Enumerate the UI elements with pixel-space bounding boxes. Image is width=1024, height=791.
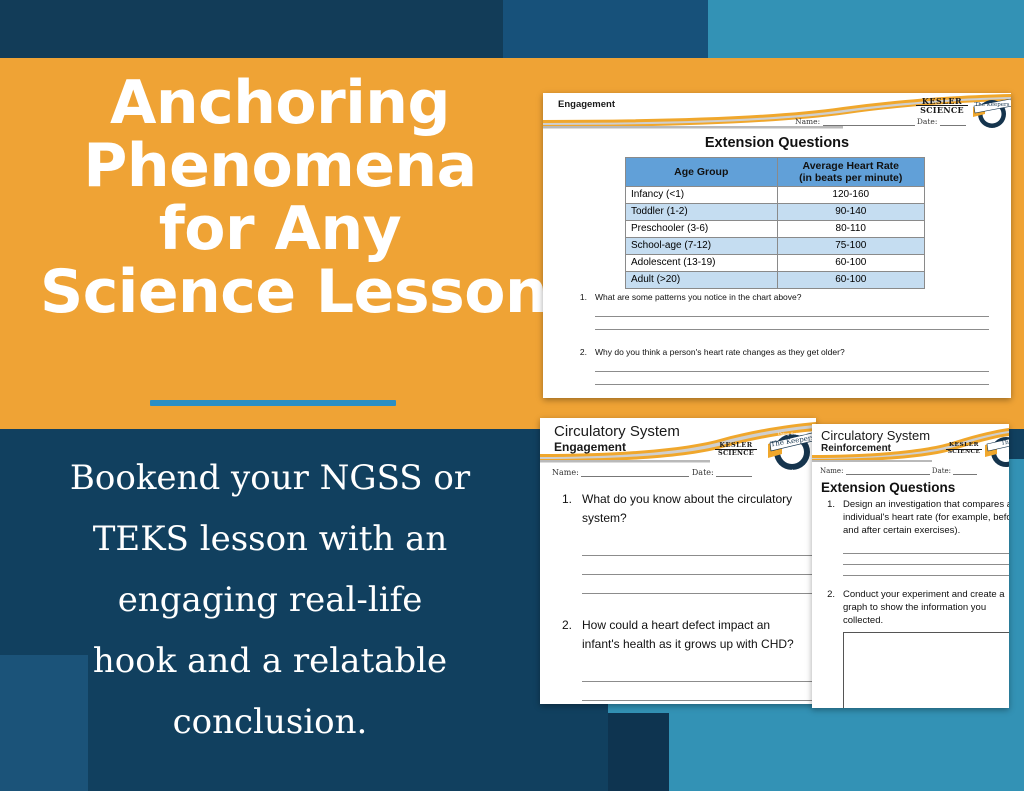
answer-lines[interactable]: [595, 361, 989, 385]
page-title-line-2: Phenomena: [40, 135, 520, 198]
cell-age-group: Adult (>20): [626, 272, 778, 289]
name-label: Name:: [552, 468, 579, 477]
worksheet-subtitle: Reinforcement: [821, 443, 891, 454]
answer-line[interactable]: [582, 663, 816, 682]
answer-lines[interactable]: [582, 537, 816, 594]
cell-heart-rate: 60-100: [777, 255, 924, 272]
background-navy-bottom-right: [608, 713, 669, 791]
name-input-rule[interactable]: [823, 125, 915, 126]
answer-box-wrap[interactable]: [843, 632, 1009, 708]
question-list: 1. What are some patterns you notice in …: [569, 292, 989, 385]
question-list: 1. What do you know about the circulator…: [556, 490, 816, 704]
the-keepers-badge-icon: The: [984, 430, 1009, 474]
answer-line[interactable]: [582, 537, 816, 556]
page-subtitle-line-3: engaging real-life: [20, 570, 520, 631]
page-subtitle: Bookend your NGSS or TEKS lesson with an…: [20, 448, 520, 753]
answer-line[interactable]: [595, 372, 989, 385]
question-item: 2. Conduct your experiment and create a …: [821, 588, 1009, 627]
answer-line[interactable]: [595, 306, 989, 317]
question-item: 1. What do you know about the circulator…: [556, 490, 816, 528]
question-text: What are some patterns you notice in the…: [595, 292, 801, 302]
worksheet-header-label: Engagement: [558, 99, 615, 110]
question-text-line-1: How could a heart defect impact an: [582, 616, 794, 635]
page-title-line-4: Science Lesson: [40, 261, 520, 324]
answer-line[interactable]: [582, 701, 816, 704]
the-keepers-badge-icon: The Keepers: [971, 93, 1011, 135]
cell-heart-rate: 80-110: [777, 221, 924, 238]
worksheet-title: Circulatory System: [821, 428, 930, 443]
svg-text:The Keepers: The Keepers: [975, 102, 1010, 108]
table-row: Infancy (<1) 120-160: [626, 187, 925, 204]
question-text-line-1: What do you know about the circulatory: [582, 490, 792, 509]
kesler-science-logo: KESLER SCIENCE: [916, 97, 968, 114]
table-col-heart-rate: Average Heart Rate (in beats per minute): [777, 158, 924, 187]
name-label: Name:: [795, 117, 820, 126]
page-title-line-1: Anchoring: [40, 72, 520, 135]
the-keepers-badge-icon: The Keepers Using Science Change the Wor…: [766, 426, 816, 478]
question-item: 2. Why do you think a person's heart rat…: [569, 347, 989, 357]
worksheet-engagement-extension[interactable]: Engagement KESLER SCIENCE The Keepers Na…: [543, 93, 1011, 398]
name-date-line: Name: Date:: [820, 467, 977, 475]
question-text-line-3: collected.: [843, 614, 1005, 627]
logo-line-2: SCIENCE: [946, 449, 982, 456]
logo-line-2: SCIENCE: [715, 449, 757, 457]
cell-heart-rate: 75-100: [777, 238, 924, 255]
question-text-line-3: and after certain exercises).: [843, 524, 1009, 537]
worksheet-circulatory-engagement[interactable]: Circulatory System Engagement KESLER SCI…: [540, 418, 816, 704]
question-text-line-2: system?: [582, 509, 792, 528]
question-number: 1.: [556, 490, 572, 528]
answer-line[interactable]: [595, 317, 989, 330]
background-navy-top-band: [0, 0, 503, 58]
answer-lines[interactable]: [582, 663, 816, 704]
question-list: 1. Design an investigation that compares…: [821, 498, 1009, 708]
date-label: Date:: [932, 467, 951, 475]
table-header-row: Age Group Average Heart Rate (in beats p…: [626, 158, 925, 187]
question-number: 1.: [821, 498, 835, 537]
table-row: School-age (7-12) 75-100: [626, 238, 925, 255]
question-text: Why do you think a person's heart rate c…: [595, 347, 845, 357]
name-input-rule[interactable]: [581, 476, 689, 477]
worksheet-circulatory-reinforcement[interactable]: Circulatory System Reinforcement KESLER …: [812, 424, 1009, 708]
cell-heart-rate: 120-160: [777, 187, 924, 204]
question-number: 1.: [569, 292, 587, 302]
worksheet-subtitle: Engagement: [554, 440, 626, 454]
cell-heart-rate: 60-100: [777, 272, 924, 289]
date-input-rule[interactable]: [953, 474, 977, 475]
answer-line[interactable]: [843, 543, 1009, 554]
graph-answer-box[interactable]: [843, 632, 1009, 708]
page-subtitle-line-2: TEKS lesson with an: [20, 509, 520, 570]
logo-line-1: KESLER: [946, 443, 982, 449]
poster-canvas: Anchoring Phenomena for Any Science Less…: [0, 0, 1024, 791]
page-subtitle-line-5: conclusion.: [20, 692, 520, 753]
table-row: Preschooler (3-6) 80-110: [626, 221, 925, 238]
answer-line[interactable]: [582, 575, 816, 594]
table-col-heart-rate-line1: Average Heart Rate: [803, 160, 900, 172]
table-row: Toddler (1-2) 90-140: [626, 204, 925, 221]
question-text-line-1: Conduct your experiment and create a: [843, 588, 1005, 601]
cell-age-group: Infancy (<1): [626, 187, 778, 204]
page-subtitle-line-1: Bookend your NGSS or: [20, 448, 520, 509]
date-input-rule[interactable]: [940, 125, 966, 126]
cell-age-group: Adolescent (13-19): [626, 255, 778, 272]
question-text-line-2: infant's health as it grows up with CHD?: [582, 635, 794, 654]
answer-line[interactable]: [843, 565, 1009, 576]
logo-line-2: SCIENCE: [916, 105, 968, 114]
answer-line[interactable]: [582, 682, 816, 701]
section-title: Extension Questions: [821, 480, 955, 495]
svg-text:Using Science: Using Science: [778, 431, 808, 436]
name-date-line: Name: Date:: [552, 468, 752, 477]
cell-age-group: Toddler (1-2): [626, 204, 778, 221]
question-item: 2. How could a heart defect impact an in…: [556, 616, 816, 654]
svg-text:Change the World: Change the World: [774, 468, 811, 473]
question-text-line-2: individual's heart rate (for example, be…: [843, 511, 1009, 524]
svg-text:The: The: [1001, 438, 1009, 447]
answer-line[interactable]: [595, 361, 989, 372]
section-title: Extension Questions: [543, 135, 1011, 151]
question-item: 1. What are some patterns you notice in …: [569, 292, 989, 302]
logo-line-1: KESLER: [715, 442, 757, 449]
question-text-line-2: graph to show the information you: [843, 601, 1005, 614]
name-date-line: Name: Date:: [795, 117, 966, 126]
answer-lines[interactable]: [843, 543, 1009, 576]
cell-age-group: School-age (7-12): [626, 238, 778, 255]
kesler-science-logo: KESLER SCIENCE: [715, 442, 757, 456]
question-item: 1. Design an investigation that compares…: [821, 498, 1009, 537]
page-title-line-3: for Any: [40, 198, 520, 261]
name-label: Name:: [820, 467, 843, 475]
name-input-rule[interactable]: [846, 474, 930, 475]
page-title: Anchoring Phenomena for Any Science Less…: [40, 72, 520, 324]
worksheet-title: Circulatory System: [554, 423, 680, 440]
logo-line-1: KESLER: [916, 97, 968, 105]
cell-age-group: Preschooler (3-6): [626, 221, 778, 238]
answer-lines[interactable]: [595, 306, 989, 330]
table-col-age-group: Age Group: [626, 158, 778, 187]
table-row: Adolescent (13-19) 60-100: [626, 255, 925, 272]
question-text-line-1: Design an investigation that compares an: [843, 498, 1009, 511]
table-col-heart-rate-line2: (in beats per minute): [799, 172, 902, 184]
question-number: 2.: [556, 616, 572, 654]
question-number: 2.: [821, 588, 835, 627]
date-label: Date:: [917, 117, 937, 126]
cell-heart-rate: 90-140: [777, 204, 924, 221]
answer-line[interactable]: [843, 554, 1009, 565]
heart-rate-table: Age Group Average Heart Rate (in beats p…: [625, 157, 925, 289]
page-subtitle-line-4: hook and a relatable: [20, 631, 520, 692]
date-input-rule[interactable]: [716, 476, 752, 477]
table-row: Adult (>20) 60-100: [626, 272, 925, 289]
question-number: 2.: [569, 347, 587, 357]
title-divider-rule: [150, 400, 396, 406]
answer-line[interactable]: [582, 556, 816, 575]
kesler-science-logo: KESLER SCIENCE: [946, 443, 982, 456]
date-label: Date:: [692, 468, 714, 477]
